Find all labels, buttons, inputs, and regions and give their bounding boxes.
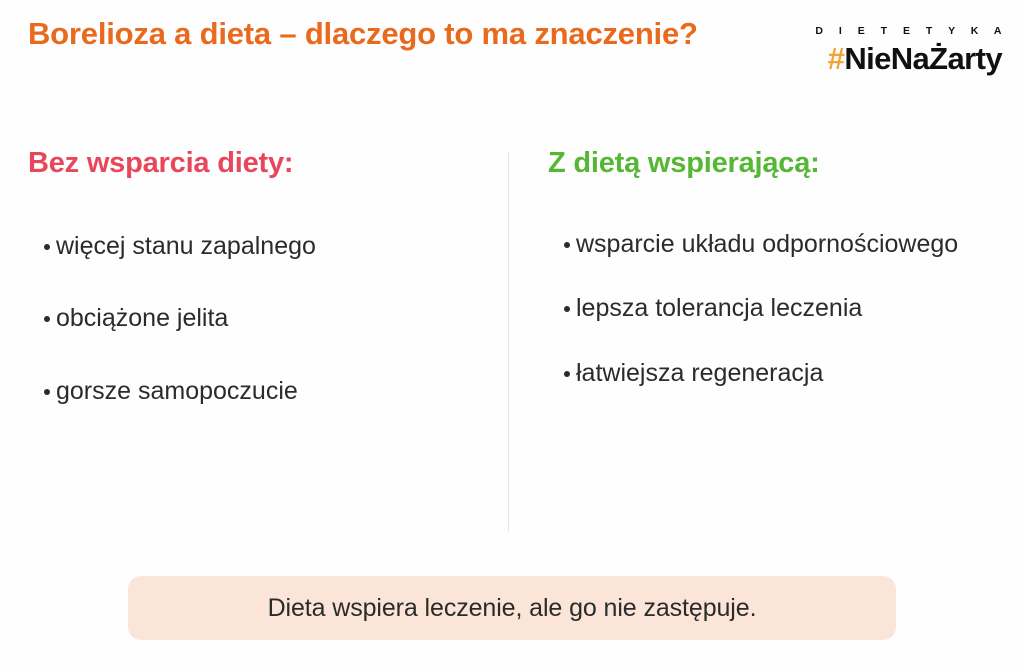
column-without-diet: Bez wsparcia diety: więcej stanu zapalne… bbox=[28, 146, 488, 408]
column-heading-without-diet: Bez wsparcia diety: bbox=[28, 146, 488, 181]
bullet-list-with-diet: wsparcie układu odpornościowego lepsza t… bbox=[548, 227, 1000, 391]
column-heading-with-diet: Z dietą wspierającą: bbox=[548, 146, 1000, 181]
column-with-diet: Z dietą wspierającą: wsparcie układu odp… bbox=[548, 146, 1000, 390]
list-item: więcej stanu zapalnego bbox=[28, 229, 488, 264]
hash-icon: # bbox=[828, 41, 845, 76]
footer-callout-text: Dieta wspiera leczenie, ale go nie zastę… bbox=[268, 596, 757, 621]
logo-brand-name: NieNaŻarty bbox=[844, 41, 1002, 76]
brand-logo: D I E T E T Y K A #NieNaŻarty bbox=[802, 26, 1002, 74]
list-item: łatwiejsza regeneracja bbox=[548, 356, 1000, 391]
logo-tagline: D I E T E T Y K A bbox=[802, 26, 1008, 37]
column-divider bbox=[508, 152, 509, 532]
comparison-columns: Bez wsparcia diety: więcej stanu zapalne… bbox=[0, 146, 1024, 536]
page-title: Borelioza a dieta – dlaczego to ma znacz… bbox=[28, 14, 718, 55]
infographic-slide: Borelioza a dieta – dlaczego to ma znacz… bbox=[0, 0, 1024, 672]
footer-callout-banner: Dieta wspiera leczenie, ale go nie zastę… bbox=[128, 576, 896, 640]
bullet-list-without-diet: więcej stanu zapalnego obciążone jelita … bbox=[28, 229, 488, 409]
header: Borelioza a dieta – dlaczego to ma znacz… bbox=[0, 0, 1024, 120]
list-item: obciążone jelita bbox=[28, 301, 488, 336]
list-item: gorsze samopoczucie bbox=[28, 374, 488, 409]
list-item: lepsza tolerancja leczenia bbox=[548, 291, 1000, 326]
logo-wordmark: #NieNaŻarty bbox=[802, 43, 1002, 74]
list-item: wsparcie układu odpornościowego bbox=[548, 227, 1000, 262]
